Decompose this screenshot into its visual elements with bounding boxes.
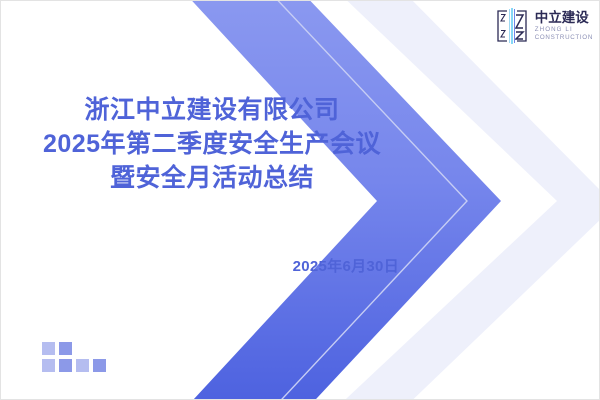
decorative-square	[42, 342, 55, 355]
decorative-square-grid	[42, 342, 106, 376]
title-line-3: 暨安全月活动总结	[29, 161, 395, 195]
zhongli-z-monogram-icon	[494, 8, 530, 44]
decorative-square	[42, 359, 55, 372]
decorative-square	[93, 359, 106, 372]
logo-wordmark: 中立建设 ZHONG LI CONSTRUCTION	[535, 11, 593, 41]
company-logo: 中立建设 ZHONG LI CONSTRUCTION	[494, 8, 593, 44]
decorative-square	[76, 359, 89, 372]
slide-title-block: 浙江中立建设有限公司 2025年第二季度安全生产会议 暨安全月活动总结	[29, 93, 395, 195]
pale-chevron-band	[331, 1, 600, 400]
decorative-square	[59, 342, 72, 355]
title-line-2: 2025年第二季度安全生产会议	[29, 127, 395, 161]
decorative-square	[59, 359, 72, 372]
background-chevron-artwork	[1, 1, 600, 400]
logo-company-name-en-line1: ZHONG LI	[535, 27, 593, 33]
logo-company-name-en-line2: CONSTRUCTION	[535, 35, 593, 41]
solid-chevron	[181, 1, 501, 400]
logo-company-name-cn: 中立建设	[535, 11, 593, 25]
decorative-square-row	[42, 342, 106, 355]
slide-canvas: 中立建设 ZHONG LI CONSTRUCTION 浙江中立建设有限公司 20…	[0, 0, 600, 400]
title-line-1: 浙江中立建设有限公司	[29, 93, 395, 127]
decorative-square-row	[42, 359, 106, 372]
slide-date: 2025年6月30日	[29, 255, 399, 276]
outline-chevron	[269, 1, 467, 400]
